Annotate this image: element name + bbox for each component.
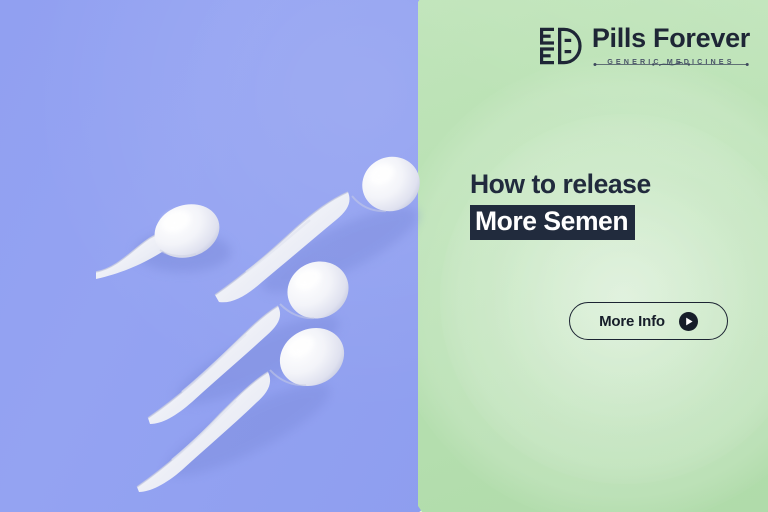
- play-circle-icon: [679, 312, 698, 331]
- tagline-wrapper: GENERIC MEDICINES: [592, 55, 750, 69]
- more-info-button[interactable]: More Info: [569, 302, 728, 340]
- brand-tagline: GENERIC MEDICINES: [592, 55, 750, 69]
- headline-line-2-highlight: More Semen: [470, 205, 635, 240]
- headline-block: How to release More Semen: [470, 170, 738, 240]
- logo-text-block: Pills Forever GENERIC MEDICINES: [592, 24, 750, 69]
- promo-banner: Pills Forever GENERIC MEDICINES How to r…: [0, 0, 768, 512]
- sperm-cell-1: [96, 196, 231, 279]
- headline-line-1: How to release: [470, 170, 738, 200]
- brand-logo[interactable]: Pills Forever GENERIC MEDICINES: [537, 24, 750, 69]
- headline-line-2-wrapper: More Semen: [470, 205, 635, 240]
- sperm-cells-3d-illustration: [0, 0, 768, 512]
- eb-monogram-icon: [537, 26, 583, 66]
- more-info-label: More Info: [599, 313, 665, 330]
- brand-name: Pills Forever: [592, 24, 750, 52]
